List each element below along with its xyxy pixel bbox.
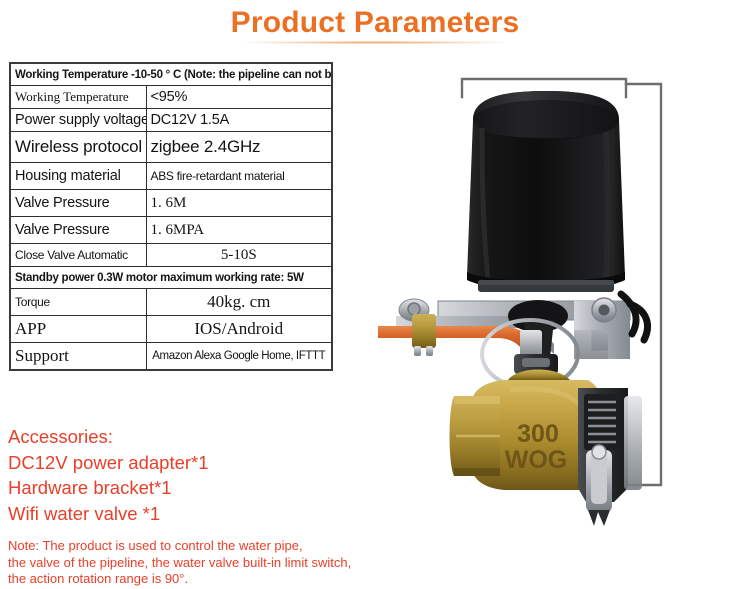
spec-value-valve-pressure-1: 1. 6M	[146, 190, 332, 217]
actuator-housing	[467, 91, 625, 292]
spec-value-humidity: <95%	[146, 86, 332, 109]
table-row: Housing material ABS fire-retardant mate…	[10, 163, 332, 190]
spec-label-wireless-protocol: Wireless protocol	[10, 132, 146, 163]
valve-marking-wog: WOG	[505, 446, 568, 474]
specifications-table: Working Temperature -10-50 ° C (Note: th…	[9, 62, 333, 371]
spec-value-power-supply-voltage: DC12V 1.5A	[146, 109, 332, 132]
table-row: Working Temperature -10-50 ° C (Note: th…	[10, 63, 332, 86]
spec-label-support: Support	[10, 343, 146, 371]
page-header: Product Parameters	[0, 6, 750, 44]
table-row: Valve Pressure 1. 6MPA	[10, 217, 332, 244]
spec-value-app: IOS/Android	[146, 316, 332, 343]
note-line-1: Note: The product is used to control the…	[8, 538, 428, 555]
cable-gland	[592, 298, 616, 322]
spec-value-close-valve-automatic: 5-10S	[146, 244, 332, 267]
note-line-3: the action rotation range is 90°.	[8, 571, 428, 588]
table-row: Close Valve Automatic 5-10S	[10, 244, 332, 267]
spec-value-wireless-protocol: zigbee 2.4GHz	[146, 132, 332, 163]
accessory-item-wifi-water-valve: Wifi water valve *1	[8, 501, 408, 527]
spec-note-standby-power: Standby power 0.3W motor maximum working…	[10, 267, 332, 289]
table-row: APP IOS/Android	[10, 316, 332, 343]
spec-value-torque: 40kg. cm	[146, 289, 332, 316]
table-row: Standby power 0.3W motor maximum working…	[10, 267, 332, 289]
valve-marking-300: 300	[517, 420, 559, 448]
product-photo-smart-water-valve: 300 WOG	[378, 58, 750, 578]
note-section: Note: The product is used to control the…	[8, 538, 428, 588]
page-title: Product Parameters	[0, 6, 750, 40]
spec-label-close-valve-automatic: Close Valve Automatic	[10, 244, 146, 267]
accessory-item-power-adapter: DC12V power adapter*1	[8, 450, 408, 476]
accessories-section: Accessories: DC12V power adapter*1 Hardw…	[8, 424, 408, 526]
spec-note-working-temperature: Working Temperature -10-50 ° C (Note: th…	[10, 63, 332, 86]
title-underline-decoration	[245, 41, 505, 44]
table-row: Power supply voltage DC12V 1.5A	[10, 109, 332, 132]
spec-label-torque: Torque	[10, 289, 146, 316]
spec-label-power-supply-voltage: Power supply voltage	[10, 109, 146, 132]
table-row: Support Amazon Alexa Google Home, IFTTT	[10, 343, 332, 371]
spec-value-valve-pressure-2: 1. 6MPA	[146, 217, 332, 244]
spec-label-valve-pressure-2: Valve Pressure	[10, 217, 146, 244]
table-row: Torque 40kg. cm	[10, 289, 332, 316]
limit-switch-assembly	[578, 388, 642, 526]
accessory-item-hardware-bracket: Hardware bracket*1	[8, 475, 408, 501]
note-line-2: the valve of the pipeline, the water val…	[8, 555, 428, 572]
spec-value-housing-material: ABS fire-retardant material	[146, 163, 332, 190]
table-row: Wireless protocol zigbee 2.4GHz	[10, 132, 332, 163]
table-row: Working Temperature <95%	[10, 86, 332, 109]
accessories-heading: Accessories:	[8, 424, 408, 450]
spec-label-humidity: Working Temperature	[10, 86, 146, 109]
table-row: Valve Pressure 1. 6M	[10, 190, 332, 217]
spec-label-housing-material: Housing material	[10, 163, 146, 190]
spec-value-support: Amazon Alexa Google Home, IFTTT	[146, 343, 332, 371]
spec-label-app: APP	[10, 316, 146, 343]
spec-label-valve-pressure-1: Valve Pressure	[10, 190, 146, 217]
